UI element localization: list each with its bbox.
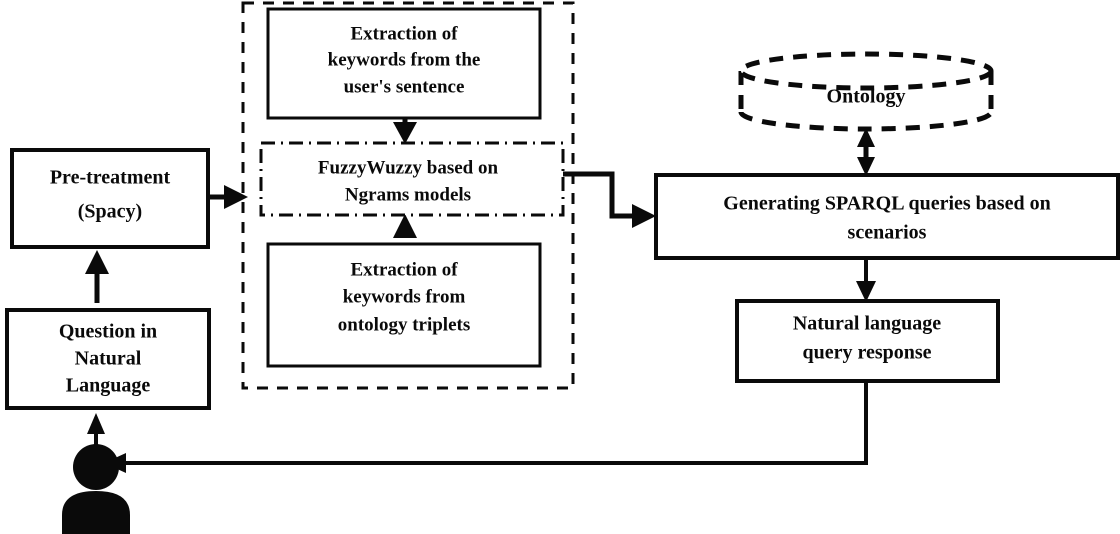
extract-user-label-line-1: Extraction of [350, 23, 458, 44]
node-query-response[interactable]: Natural language query response [737, 301, 998, 381]
node-extract-user-keywords[interactable]: Extraction of keywords from the user's s… [268, 9, 540, 118]
node-extract-ontology-triplets[interactable]: Extraction of keywords from ontology tri… [268, 244, 540, 366]
fuzzywuzzy-label-line-2: Ngrams models [345, 184, 471, 205]
edge-extract-user-to-fuzzywuzzy [393, 118, 417, 144]
user-head-icon [73, 444, 119, 490]
node-ontology[interactable]: Ontology [741, 54, 991, 129]
flowchart-diagram: Pre-treatment (Spacy) Question in Natura… [0, 0, 1120, 534]
response-label-line-2: query response [802, 342, 931, 364]
response-label-line-1: Natural language [793, 313, 941, 335]
edge-fuzzywuzzy-to-sparql [563, 174, 656, 228]
edge-response-to-user [104, 381, 866, 473]
question-label-line-1: Question in [59, 321, 157, 343]
edge-sparql-to-response [856, 258, 876, 302]
extract-triplets-label-line-1: Extraction of [350, 259, 458, 280]
node-question[interactable]: Question in Natural Language [7, 310, 209, 408]
ontology-cylinder-top [741, 54, 991, 88]
ontology-label: Ontology [827, 86, 906, 108]
extract-user-label-line-3: user's sentence [344, 76, 465, 97]
question-label-line-3: Language [66, 375, 151, 397]
diagram-canvas: Pre-treatment (Spacy) Question in Natura… [0, 0, 1120, 534]
sparql-label-line-1: Generating SPARQL queries based on [723, 193, 1050, 215]
node-pretreatment[interactable]: Pre-treatment (Spacy) [12, 150, 208, 247]
extract-triplets-label-line-2: keywords from [343, 286, 466, 307]
pretreatment-label-line-2: (Spacy) [78, 201, 142, 223]
user-body-icon [62, 491, 130, 534]
question-label-line-2: Natural [75, 348, 142, 370]
extract-triplets-label-line-3: ontology triplets [338, 314, 470, 335]
fuzzywuzzy-label-line-1: FuzzyWuzzy based on [318, 157, 499, 178]
edge-question-to-pretreatment [85, 250, 109, 303]
edge-ontology-to-sparql [857, 128, 875, 176]
node-sparql-generation[interactable]: Generating SPARQL queries based on scena… [656, 175, 1118, 258]
sparql-label-line-2: scenarios [848, 222, 927, 244]
extract-user-label-line-2: keywords from the [328, 49, 481, 70]
pretreatment-label-line-1: Pre-treatment [50, 167, 171, 189]
node-fuzzywuzzy[interactable]: FuzzyWuzzy based on Ngrams models [261, 143, 563, 215]
